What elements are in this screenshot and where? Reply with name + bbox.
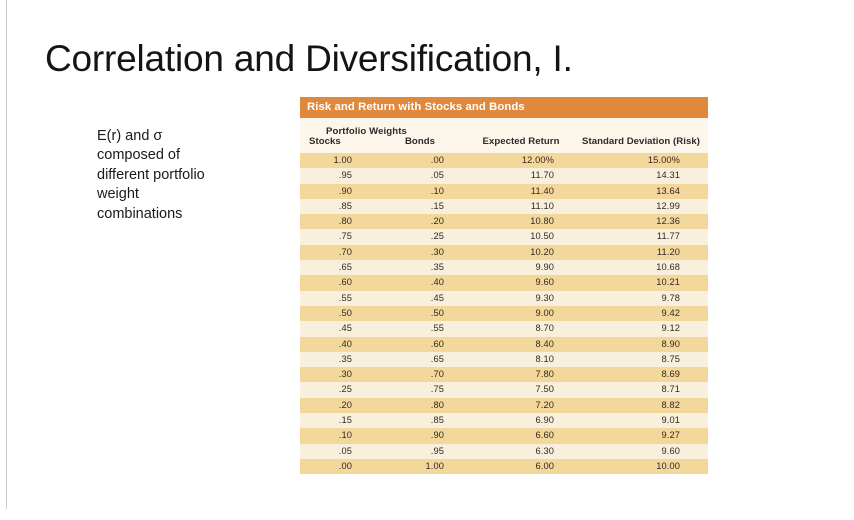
table-cell: .00 [300, 459, 374, 474]
table-header-row: Stocks Bonds Expected Return Standard De… [300, 135, 708, 153]
table-cell: .15 [300, 413, 374, 428]
table-cell: 12.00% [466, 153, 576, 168]
table-cell: .80 [374, 398, 466, 413]
table-row: .40.608.408.90 [300, 337, 708, 352]
table-cell: .40 [374, 275, 466, 290]
table-cell: 9.27 [576, 428, 708, 443]
table-cell: 8.82 [576, 398, 708, 413]
table-cell: .70 [374, 367, 466, 382]
table-cell: .00 [374, 153, 466, 168]
table-cell: .80 [300, 214, 374, 229]
table-cell: .40 [300, 337, 374, 352]
body-line: different portfolio [97, 166, 287, 185]
table-cell: .45 [300, 321, 374, 336]
table-row: .95.0511.7014.31 [300, 168, 708, 183]
table-row: .35.658.108.75 [300, 352, 708, 367]
column-header-standard-deviation: Standard Deviation (Risk) [576, 135, 708, 153]
table-row: .50.509.009.42 [300, 306, 708, 321]
table-cell: 10.00 [576, 459, 708, 474]
table-cell: 10.21 [576, 275, 708, 290]
table-row: .25.757.508.71 [300, 382, 708, 397]
table-cell: .90 [374, 428, 466, 443]
table-cell: 8.75 [576, 352, 708, 367]
table-cell: 6.60 [466, 428, 576, 443]
table-row: .001.006.0010.00 [300, 459, 708, 474]
table-cell: .30 [374, 245, 466, 260]
table-cell: 6.90 [466, 413, 576, 428]
table-cell: 8.69 [576, 367, 708, 382]
data-table: Stocks Bonds Expected Return Standard De… [300, 135, 708, 474]
table-cell: .05 [374, 168, 466, 183]
table-cell: 12.99 [576, 199, 708, 214]
body-line: weight [97, 185, 287, 204]
table-cell: 11.77 [576, 229, 708, 244]
table-cell: .05 [300, 444, 374, 459]
table-cell: .95 [300, 168, 374, 183]
table-cell: .70 [300, 245, 374, 260]
table-cell: 6.30 [466, 444, 576, 459]
table-cell: .15 [374, 199, 466, 214]
table-cell: .45 [374, 291, 466, 306]
table-cell: .60 [300, 275, 374, 290]
table-cell: 8.70 [466, 321, 576, 336]
table-cell: .60 [374, 337, 466, 352]
table-cell: 9.60 [466, 275, 576, 290]
table-cell: 9.00 [466, 306, 576, 321]
table-cell: 7.20 [466, 398, 576, 413]
table-row: .30.707.808.69 [300, 367, 708, 382]
table-cell: .50 [300, 306, 374, 321]
table-row: .65.359.9010.68 [300, 260, 708, 275]
column-header-stocks: Stocks [300, 135, 374, 153]
table-cell: .75 [374, 382, 466, 397]
table-row: .75.2510.5011.77 [300, 229, 708, 244]
table-cell: .20 [374, 214, 466, 229]
table-cell: .95 [374, 444, 466, 459]
table-cell: 6.00 [466, 459, 576, 474]
risk-return-table: Risk and Return with Stocks and Bonds Po… [300, 97, 708, 474]
slide-body-text: E(r) and σ composed of different portfol… [97, 127, 287, 224]
column-header-expected-return: Expected Return [466, 135, 576, 153]
table-cell: .55 [300, 291, 374, 306]
table-row: .20.807.208.82 [300, 398, 708, 413]
table-cell: 8.40 [466, 337, 576, 352]
table-cell: 9.42 [576, 306, 708, 321]
portfolio-weights-group-label: Portfolio Weights [326, 126, 407, 137]
table-cell: .30 [300, 367, 374, 382]
table-cell: .10 [374, 184, 466, 199]
table-cell: 8.10 [466, 352, 576, 367]
table-cell: 9.60 [576, 444, 708, 459]
table-cell: .35 [300, 352, 374, 367]
table-cell: 9.90 [466, 260, 576, 275]
table-cell: 1.00 [374, 459, 466, 474]
table-cell: .10 [300, 428, 374, 443]
table-cell: 9.12 [576, 321, 708, 336]
table-cell: 15.00% [576, 153, 708, 168]
page-title: Correlation and Diversification, I. [45, 36, 573, 82]
table-cell: .35 [374, 260, 466, 275]
table-cell: .90 [300, 184, 374, 199]
table-row: .70.3010.2011.20 [300, 245, 708, 260]
table-row: .90.1011.4013.64 [300, 184, 708, 199]
table-group-header-row: Portfolio Weights [300, 118, 708, 135]
table-cell: .65 [300, 260, 374, 275]
table-cell: 7.80 [466, 367, 576, 382]
table-row: .45.558.709.12 [300, 321, 708, 336]
table-row: 1.00.0012.00%15.00% [300, 153, 708, 168]
table-cell: .85 [300, 199, 374, 214]
table-row: .10.906.609.27 [300, 428, 708, 443]
table-cell: 11.10 [466, 199, 576, 214]
table-row: .60.409.6010.21 [300, 275, 708, 290]
slide-canvas: Correlation and Diversification, I. E(r)… [7, 0, 854, 520]
table-cell: .50 [374, 306, 466, 321]
table-row: .80.2010.8012.36 [300, 214, 708, 229]
table-row: .05.956.309.60 [300, 444, 708, 459]
table-cell: 10.80 [466, 214, 576, 229]
table-cell: 8.71 [576, 382, 708, 397]
table-cell: .25 [300, 382, 374, 397]
table-cell: 10.20 [466, 245, 576, 260]
table-cell: .65 [374, 352, 466, 367]
table-cell: 10.68 [576, 260, 708, 275]
table-row: .85.1511.1012.99 [300, 199, 708, 214]
table-cell: 7.50 [466, 382, 576, 397]
table-cell: 11.40 [466, 184, 576, 199]
table-cell: 8.90 [576, 337, 708, 352]
table-cell: 11.70 [466, 168, 576, 183]
table-cell: 10.50 [466, 229, 576, 244]
table-row: .55.459.309.78 [300, 291, 708, 306]
table-cell: 14.31 [576, 168, 708, 183]
body-line: E(r) and σ [97, 127, 287, 146]
body-line: combinations [97, 205, 287, 224]
table-row: .15.856.909.01 [300, 413, 708, 428]
table-cell: .25 [374, 229, 466, 244]
table-cell: .75 [300, 229, 374, 244]
table-cell: 9.01 [576, 413, 708, 428]
table-cell: 9.78 [576, 291, 708, 306]
table-cell: 9.30 [466, 291, 576, 306]
table-cell: .85 [374, 413, 466, 428]
table-cell: 12.36 [576, 214, 708, 229]
table-cell: .20 [300, 398, 374, 413]
body-line: composed of [97, 146, 287, 165]
table-cell: .55 [374, 321, 466, 336]
table-cell: 11.20 [576, 245, 708, 260]
table-body: 1.00.0012.00%15.00%.95.0511.7014.31.90.1… [300, 153, 708, 474]
table-caption: Risk and Return with Stocks and Bonds [300, 97, 708, 118]
column-header-bonds: Bonds [374, 135, 466, 153]
table-cell: 13.64 [576, 184, 708, 199]
table-cell: 1.00 [300, 153, 374, 168]
